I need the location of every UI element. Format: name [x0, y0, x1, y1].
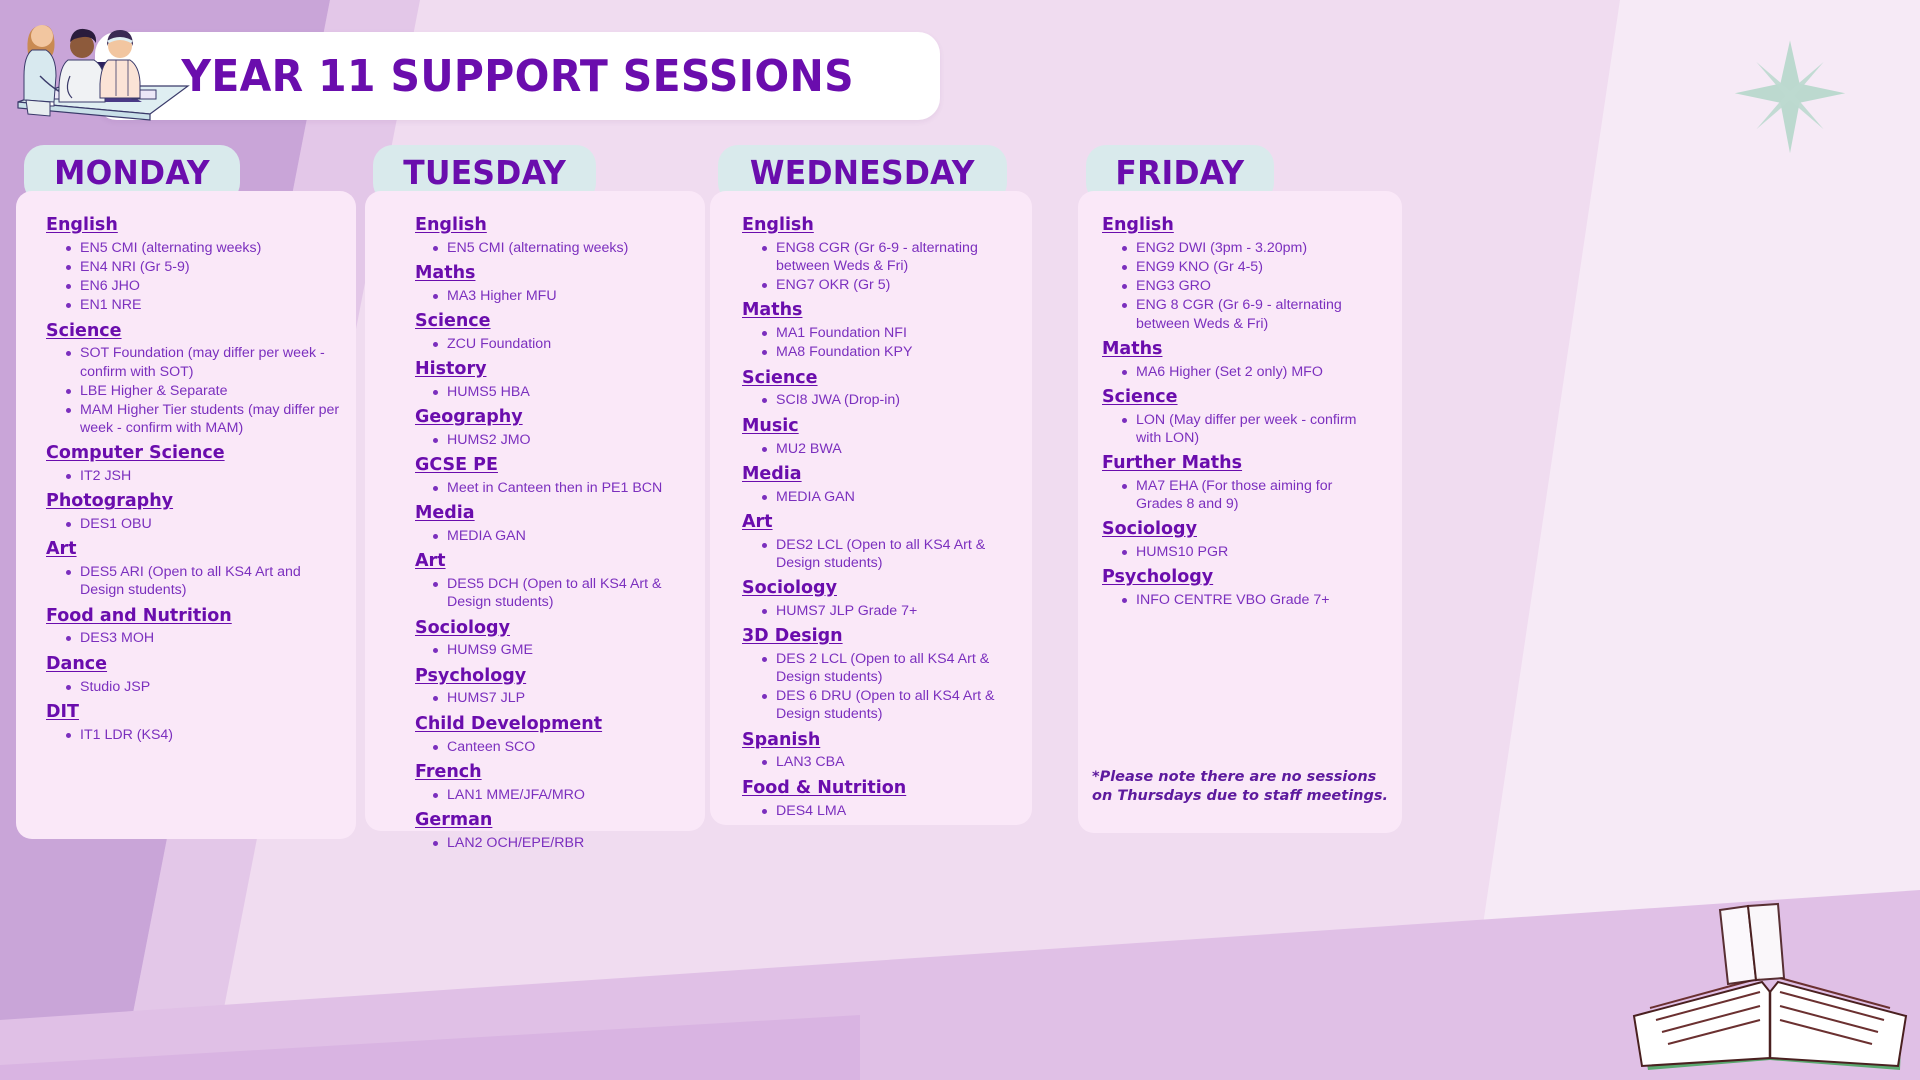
session-item: LAN3 CBA	[762, 753, 1018, 771]
session-item: HUMS5 HBA	[433, 383, 689, 401]
session-list-psychology: INFO CENTRE VBO Grade 7+	[1122, 591, 1386, 609]
day-card-friday: English ENG2 DWI (3pm - 3.20pm) ENG9 KNO…	[1078, 191, 1402, 833]
session-item: HUMS7 JLP Grade 7+	[762, 602, 1018, 620]
subject-heading-german: German	[415, 810, 689, 832]
session-item: EN4 NRI (Gr 5-9)	[66, 258, 340, 276]
session-list-media: MEDIA GAN	[433, 527, 689, 545]
session-item: DES1 OBU	[66, 515, 340, 533]
subject-heading-food-and-nutrition: Food and Nutrition	[46, 606, 340, 628]
session-list-3d-design: DES 2 LCL (Open to all KS4 Art & Design …	[762, 650, 1018, 724]
session-list-science: LON (May differ per week - confirm with …	[1122, 411, 1386, 447]
session-list-geography: HUMS2 JMO	[433, 431, 689, 449]
session-item: MA3 Higher MFU	[433, 287, 689, 305]
session-list-english: EN5 CMI (alternating weeks) EN4 NRI (Gr …	[66, 239, 340, 315]
session-item: EN5 CMI (alternating weeks)	[66, 239, 340, 257]
session-item: HUMS9 GME	[433, 641, 689, 659]
session-item: ENG9 KNO (Gr 4-5)	[1122, 258, 1386, 276]
session-item: ENG8 CGR (Gr 6-9 - alternating between W…	[762, 239, 1018, 275]
subject-heading-maths: Maths	[415, 263, 689, 285]
session-list-dance: Studio JSP	[66, 678, 340, 696]
subject-heading-dit: DIT	[46, 702, 340, 724]
session-list-english: EN5 CMI (alternating weeks)	[433, 239, 689, 257]
session-list-sociology: HUMS9 GME	[433, 641, 689, 659]
session-list-english: ENG8 CGR (Gr 6-9 - alternating between W…	[762, 239, 1018, 295]
session-item: Studio JSP	[66, 678, 340, 696]
session-list-dit: IT1 LDR (KS4)	[66, 726, 340, 744]
session-item: LBE Higher & Separate	[66, 382, 340, 400]
subject-heading-gcse-pe: GCSE PE	[415, 455, 689, 477]
session-list-french: LAN1 MME/JFA/MRO	[433, 786, 689, 804]
session-item: DES4 LMA	[762, 802, 1018, 820]
subject-heading-computer-science: Computer Science	[46, 443, 340, 465]
subject-heading-food-and-nutrition: Food & Nutrition	[742, 778, 1018, 800]
subject-heading-geography: Geography	[415, 407, 689, 429]
day-card-wednesday: English ENG8 CGR (Gr 6-9 - alternating b…	[710, 191, 1032, 825]
session-list-maths: MA1 Foundation NFI MA8 Foundation KPY	[762, 324, 1018, 361]
session-item: EN1 NRE	[66, 296, 340, 314]
session-item: DES 6 DRU (Open to all KS4 Art & Design …	[762, 687, 1018, 723]
session-item: IT1 LDR (KS4)	[66, 726, 340, 744]
subject-heading-media: Media	[415, 503, 689, 525]
session-list-german: LAN2 OCH/EPE/RBR	[433, 834, 689, 852]
session-list-english: ENG2 DWI (3pm - 3.20pm) ENG9 KNO (Gr 4-5…	[1122, 239, 1386, 333]
subject-heading-further-maths: Further Maths	[1102, 453, 1386, 475]
session-item: DES2 LCL (Open to all KS4 Art & Design s…	[762, 536, 1018, 572]
thursday-note: *Please note there are no sessions on Th…	[1092, 768, 1388, 807]
session-item: DES5 DCH (Open to all KS4 Art & Design s…	[433, 575, 689, 611]
session-item: SCI8 JWA (Drop-in)	[762, 391, 1018, 409]
open-book-illustration	[1620, 870, 1920, 1080]
session-item: ZCU Foundation	[433, 335, 689, 353]
session-list-child-development: Canteen SCO	[433, 738, 689, 756]
subject-heading-media: Media	[742, 464, 1018, 486]
day-card-monday: English EN5 CMI (alternating weeks) EN4 …	[16, 191, 356, 839]
session-item: DES5 ARI (Open to all KS4 Art and Design…	[66, 563, 340, 599]
subject-heading-english: English	[1102, 215, 1386, 237]
subject-heading-english: English	[742, 215, 1018, 237]
day-name-label: MONDAY	[54, 153, 210, 192]
session-item: MEDIA GAN	[762, 488, 1018, 506]
session-list-media: MEDIA GAN	[762, 488, 1018, 506]
session-item: MA1 Foundation NFI	[762, 324, 1018, 342]
day-column-monday: MONDAY English EN5 CMI (alternating week…	[16, 145, 356, 839]
session-item: ENG3 GRO	[1122, 277, 1386, 295]
subject-heading-art: Art	[46, 539, 340, 561]
session-list-art: DES5 ARI (Open to all KS4 Art and Design…	[66, 563, 340, 599]
subject-heading-english: English	[46, 215, 340, 237]
subject-heading-child-development: Child Development	[415, 714, 689, 736]
subject-heading-science: Science	[1102, 387, 1386, 409]
session-list-food-and-nutrition: DES4 LMA	[762, 802, 1018, 820]
session-item: LON (May differ per week - confirm with …	[1122, 411, 1386, 447]
session-item: DES3 MOH	[66, 629, 340, 647]
session-item: INFO CENTRE VBO Grade 7+	[1122, 591, 1386, 609]
subject-heading-french: French	[415, 762, 689, 784]
subject-heading-maths: Maths	[1102, 339, 1386, 361]
session-item: HUMS10 PGR	[1122, 543, 1386, 561]
day-name-label: FRIDAY	[1115, 153, 1244, 192]
session-list-gcse-pe: Meet in Canteen then in PE1 BCN	[433, 479, 689, 497]
session-list-music: MU2 BWA	[762, 440, 1018, 458]
subject-heading-photography: Photography	[46, 491, 340, 513]
session-list-maths: MA3 Higher MFU	[433, 287, 689, 305]
day-column-tuesday: TUESDAY English EN5 CMI (alternating wee…	[365, 145, 705, 831]
subject-heading-art: Art	[415, 551, 689, 573]
day-name-label: TUESDAY	[403, 153, 566, 192]
session-item: EN6 JHO	[66, 277, 340, 295]
session-item: Meet in Canteen then in PE1 BCN	[433, 479, 689, 497]
session-list-science: SOT Foundation (may differ per week - co…	[66, 344, 340, 437]
subject-heading-science: Science	[46, 321, 340, 343]
session-list-sociology: HUMS10 PGR	[1122, 543, 1386, 561]
subject-heading-spanish: Spanish	[742, 730, 1018, 752]
subject-heading-music: Music	[742, 416, 1018, 438]
session-list-photography: DES1 OBU	[66, 515, 340, 533]
day-card-tuesday: English EN5 CMI (alternating weeks) Math…	[365, 191, 705, 831]
session-item: MAM Higher Tier students (may differ per…	[66, 401, 340, 437]
subject-heading-dance: Dance	[46, 654, 340, 676]
session-item: ENG7 OKR (Gr 5)	[762, 276, 1018, 294]
day-column-wednesday: WEDNESDAY English ENG8 CGR (Gr 6-9 - alt…	[710, 145, 1110, 825]
subject-heading-art: Art	[742, 512, 1018, 534]
session-item: LAN2 OCH/EPE/RBR	[433, 834, 689, 852]
session-list-science: ZCU Foundation	[433, 335, 689, 353]
session-item: LAN1 MME/JFA/MRO	[433, 786, 689, 804]
subject-heading-sociology: Sociology	[1102, 519, 1386, 541]
session-list-sociology: HUMS7 JLP Grade 7+	[762, 602, 1018, 620]
session-list-maths: MA6 Higher (Set 2 only) MFO	[1122, 363, 1386, 381]
session-item: Canteen SCO	[433, 738, 689, 756]
subject-heading-psychology: Psychology	[1102, 567, 1386, 589]
subject-heading-3d-design: 3D Design	[742, 626, 1018, 648]
session-list-art: DES2 LCL (Open to all KS4 Art & Design s…	[762, 536, 1018, 572]
session-item: ENG 8 CGR (Gr 6-9 - alternating between …	[1122, 296, 1386, 332]
subject-heading-sociology: Sociology	[415, 618, 689, 640]
subject-heading-psychology: Psychology	[415, 666, 689, 688]
session-item: ENG2 DWI (3pm - 3.20pm)	[1122, 239, 1386, 257]
session-item: MEDIA GAN	[433, 527, 689, 545]
session-item: HUMS7 JLP	[433, 689, 689, 707]
session-list-food-and-nutrition: DES3 MOH	[66, 629, 340, 647]
session-list-history: HUMS5 HBA	[433, 383, 689, 401]
session-list-psychology: HUMS7 JLP	[433, 689, 689, 707]
session-list-spanish: LAN3 CBA	[762, 753, 1018, 771]
session-item: SOT Foundation (may differ per week - co…	[66, 344, 340, 380]
session-item: EN5 CMI (alternating weeks)	[433, 239, 689, 257]
session-item: HUMS2 JMO	[433, 431, 689, 449]
session-list-further-maths: MA7 EHA (For those aiming for Grades 8 a…	[1122, 477, 1386, 513]
subject-heading-sociology: Sociology	[742, 578, 1018, 600]
session-item: IT2 JSH	[66, 467, 340, 485]
day-name-label: WEDNESDAY	[750, 153, 975, 192]
session-item: MU2 BWA	[762, 440, 1018, 458]
subject-heading-science: Science	[415, 311, 689, 333]
session-item: MA7 EHA (For those aiming for Grades 8 a…	[1122, 477, 1386, 513]
subject-heading-english: English	[415, 215, 689, 237]
session-item: DES 2 LCL (Open to all KS4 Art & Design …	[762, 650, 1018, 686]
session-list-art: DES5 DCH (Open to all KS4 Art & Design s…	[433, 575, 689, 611]
session-list-computer-science: IT2 JSH	[66, 467, 340, 485]
subject-heading-science: Science	[742, 368, 1018, 390]
subject-heading-history: History	[415, 359, 689, 381]
day-column-friday: FRIDAY English ENG2 DWI (3pm - 3.20pm) E…	[1078, 145, 1478, 833]
session-list-science: SCI8 JWA (Drop-in)	[762, 391, 1018, 409]
session-item: MA8 Foundation KPY	[762, 343, 1018, 361]
subject-heading-maths: Maths	[742, 300, 1018, 322]
session-item: MA6 Higher (Set 2 only) MFO	[1122, 363, 1386, 381]
